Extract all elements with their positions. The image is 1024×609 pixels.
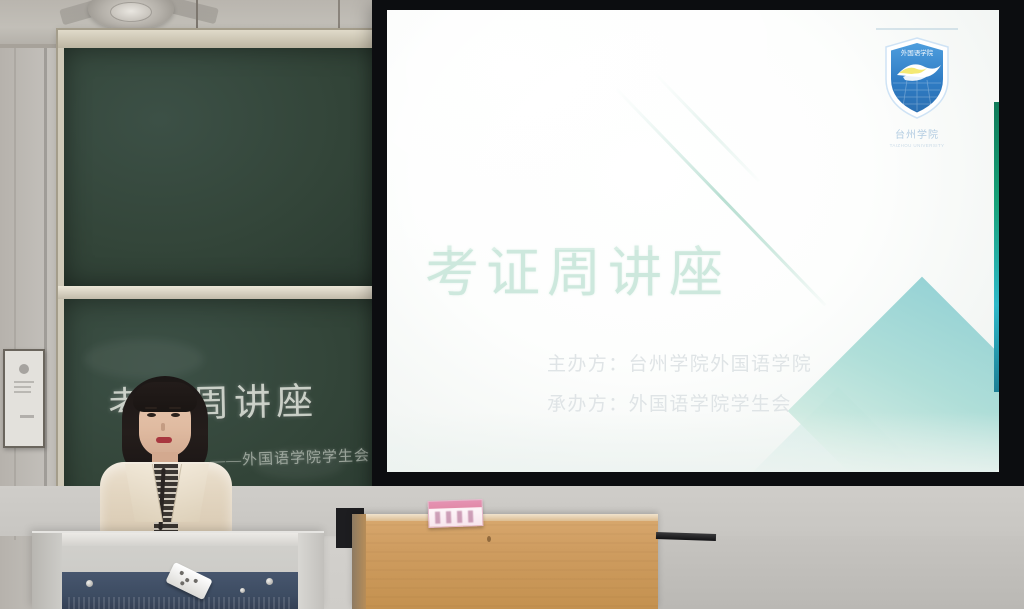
notice-text-line xyxy=(14,391,31,393)
framed-wall-notice xyxy=(3,349,45,448)
table-top-edge xyxy=(352,514,658,521)
notice-text-line xyxy=(14,381,34,383)
name-placard-text xyxy=(435,510,477,523)
classroom-scene: 考证周讲座 ——外国语学院学生会 考证周讲座 主办方：台州学院外国语学院 承办方… xyxy=(0,0,1024,609)
lectern-right-post xyxy=(298,533,324,609)
presenter-eye-left xyxy=(147,413,156,417)
blackboard-panel-upper xyxy=(64,48,382,286)
lectern-screw xyxy=(266,578,273,585)
notice-signature-line xyxy=(20,415,34,418)
shield-icon: 外国语学院 xyxy=(883,37,951,119)
wall-seam-secondary xyxy=(14,0,16,540)
logo-institution-cn: 台州学院 xyxy=(863,126,971,141)
remote-button[interactable] xyxy=(180,581,185,586)
name-placard xyxy=(428,499,484,528)
blackboard-middle-rail xyxy=(58,286,384,299)
presenter-nose xyxy=(161,423,165,431)
wall-seam xyxy=(44,0,47,540)
presenter-mouth xyxy=(156,437,172,443)
wooden-table xyxy=(352,514,658,609)
university-logo: 外国语学院 台州学院 TAIZHOU UNIVERSITY xyxy=(863,28,971,160)
remote-button[interactable] xyxy=(193,578,198,583)
table-knot-mark xyxy=(487,536,491,542)
lectern-screw xyxy=(86,580,93,587)
svg-text:外国语学院: 外国语学院 xyxy=(901,48,934,57)
remote-button[interactable] xyxy=(185,577,190,582)
presenter xyxy=(88,376,248,536)
ceiling-fan-hub xyxy=(110,2,152,22)
projection-screen-frame: 考证周讲座 主办方：台州学院外国语学院 承办方：外国语学院学生会 xyxy=(372,0,1024,489)
logo-institution-en: TAIZHOU UNIVERSITY xyxy=(863,143,971,148)
slide-bottom-wash xyxy=(387,412,999,472)
slide-title: 考证周讲座 xyxy=(425,228,730,307)
projection-screen-surface: 考证周讲座 主办方：台州学院外国语学院 承办方：外国语学院学生会 xyxy=(387,10,999,472)
presenter-eye-right xyxy=(171,413,180,417)
slide-accent-bar xyxy=(994,102,999,392)
slide-diagonal-line-secondary xyxy=(654,72,760,182)
lectern-left-post xyxy=(32,533,62,609)
lectern xyxy=(32,531,324,609)
blackboard-top-rail xyxy=(58,30,384,48)
presenter-eyebrow-left xyxy=(145,407,157,409)
remote-button[interactable] xyxy=(179,570,184,575)
lectern-vent-grille xyxy=(68,597,292,609)
notice-text-line xyxy=(14,386,31,388)
table-wood-grain xyxy=(366,524,658,609)
lower-wall-band-right xyxy=(658,536,1024,609)
slide-subtitle-organizer: 主办方：台州学院外国语学院 xyxy=(547,349,812,376)
presenter-eyebrow-right xyxy=(169,407,181,409)
logo-divider xyxy=(876,28,958,30)
lectern-screw xyxy=(240,588,245,593)
lectern-top-surface xyxy=(32,533,324,546)
notice-seal-icon xyxy=(19,364,29,374)
presenter-bangs xyxy=(133,382,197,412)
table-left-face xyxy=(352,514,366,609)
name-placard-header-band xyxy=(429,500,482,509)
